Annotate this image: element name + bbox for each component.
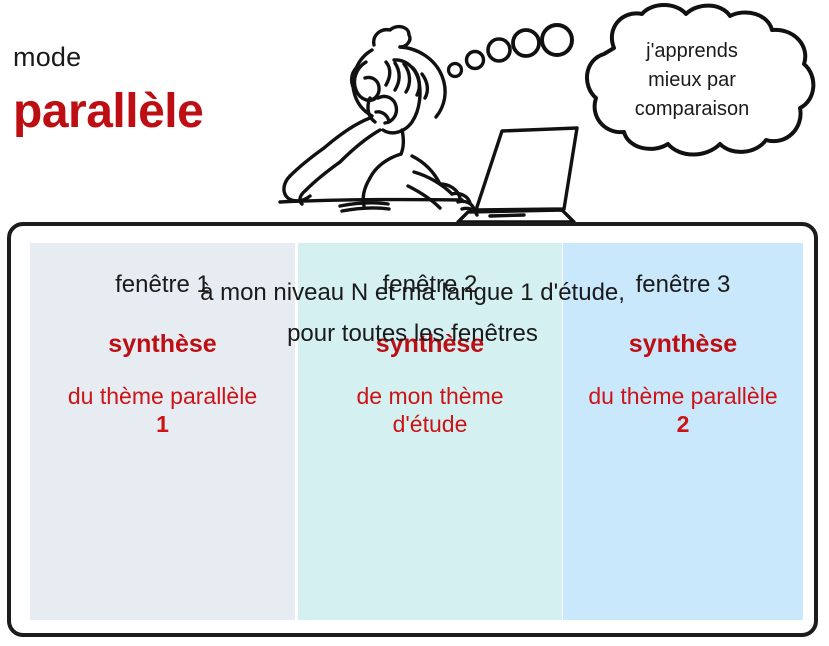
panel-fenetre-3[interactable]: fenêtre 3 synthèse du thème parallèle 2 (563, 243, 803, 620)
panel-1-subtitle: du thème parallèle 1 (30, 382, 295, 438)
thought-bubble-text: j'apprends mieux par comparaison (612, 37, 772, 123)
panel-1-synthesis-word: synthèse (30, 332, 295, 357)
panel-2-content: fenêtre 2 synthèse de mon thème d'étude (298, 243, 562, 438)
panel-3-subtitle-line-2: 2 (563, 410, 803, 438)
panel-1-window-label: fenêtre 1 (30, 273, 295, 297)
panel-3-subtitle-line-1: du thème parallèle (588, 383, 777, 409)
page-title: parallèle (13, 88, 203, 136)
thought-bubble-line-1: j'apprends (612, 37, 772, 66)
mode-label: mode (13, 44, 81, 71)
panel-2-subtitle-line-1: de mon thème (356, 383, 503, 409)
panel-fenetre-1[interactable]: fenêtre 1 synthèse du thème parallèle 1 (30, 243, 295, 620)
panel-3-subtitle: du thème parallèle 2 (563, 382, 803, 438)
panel-3-content: fenêtre 3 synthèse du thème parallèle 2 (563, 243, 803, 438)
panel-2-subtitle-line-2: d'étude (298, 410, 562, 438)
windows-frame: fenêtre 1 synthèse du thème parallèle 1 … (7, 222, 818, 637)
panel-1-subtitle-line-1: du thème parallèle (68, 383, 257, 409)
panel-3-synthesis-word: synthèse (563, 332, 803, 357)
panel-2-subtitle: de mon thème d'étude (298, 382, 562, 438)
panels-container: fenêtre 1 synthèse du thème parallèle 1 … (11, 226, 822, 641)
thought-bubble-line-2: mieux par (612, 66, 772, 95)
panel-1-subtitle-line-2: 1 (30, 410, 295, 438)
panel-3-window-label: fenêtre 3 (563, 273, 803, 297)
thought-bubble-line-3: comparaison (612, 95, 772, 124)
header: mode parallèle (0, 0, 829, 222)
panel-2-window-label: fenêtre 2 (298, 273, 562, 297)
panel-fenetre-2[interactable]: fenêtre 2 synthèse de mon thème d'étude (298, 243, 562, 620)
panel-2-synthesis-word: synthèse (298, 332, 562, 357)
panel-1-content: fenêtre 1 synthèse du thème parallèle 1 (30, 243, 295, 438)
